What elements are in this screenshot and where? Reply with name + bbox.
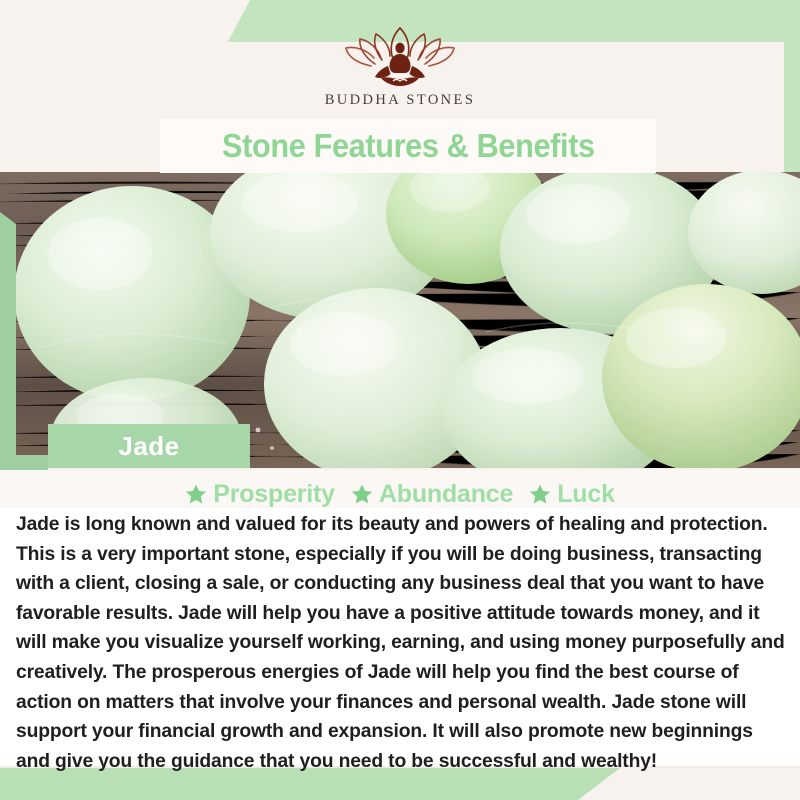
stone-name-label: Jade (118, 431, 179, 462)
brand-header: BUDDHA STONES (0, 0, 800, 120)
star-icon (529, 483, 551, 505)
infographic-card: BUDDHA STONES Stone Features & Benefits (0, 0, 800, 800)
description-text: Jade is long known and valued for its be… (16, 510, 786, 776)
stone-name-badge: Jade (48, 424, 250, 468)
brand-name: BUDDHA STONES (325, 92, 476, 109)
title-panel: Stone Features & Benefits (160, 119, 656, 173)
star-icon (351, 483, 373, 505)
benefits-row: Prosperity Abundance Luck (0, 478, 800, 510)
decor-green-left-bar (0, 212, 16, 470)
benefit-label: Prosperity (213, 480, 335, 509)
benefit-item-prosperity: Prosperity (185, 480, 335, 509)
benefit-item-abundance: Abundance (351, 480, 513, 509)
lotus-meditation-icon (341, 26, 459, 88)
benefit-item-luck: Luck (529, 480, 615, 509)
benefit-label: Abundance (379, 480, 513, 509)
star-icon (185, 483, 207, 505)
description-panel: Jade is long known and valued for its be… (0, 508, 800, 766)
page-title: Stone Features & Benefits (222, 127, 595, 165)
benefit-label: Luck (557, 480, 615, 509)
